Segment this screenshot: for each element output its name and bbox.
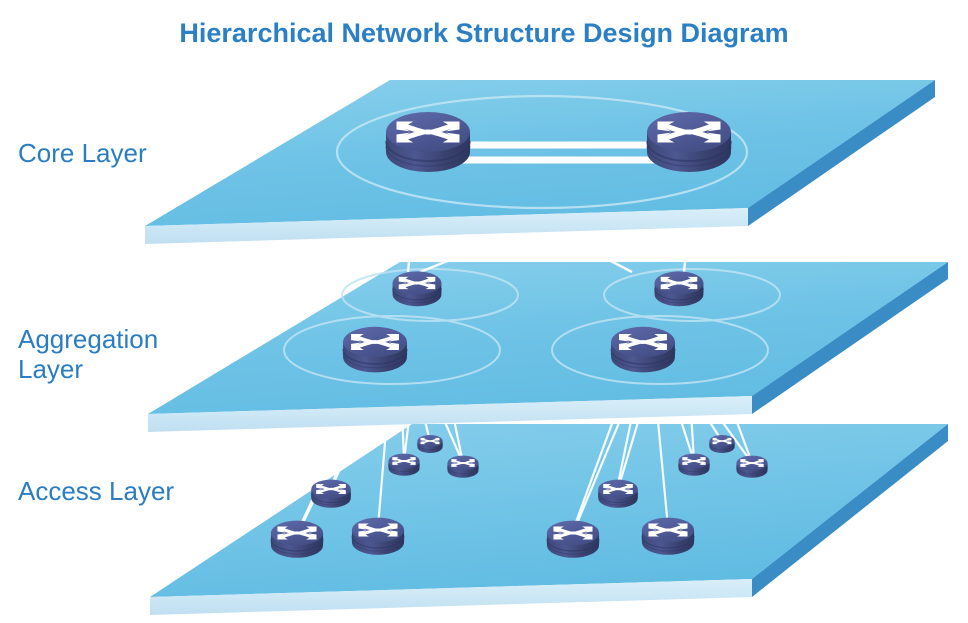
aggregation-router[interactable] (655, 271, 704, 306)
page-title: Hierarchical Network Structure Design Di… (179, 18, 788, 48)
access-router[interactable] (709, 435, 734, 453)
layer-label-access: Access Layer (18, 476, 174, 506)
layer-label-core: Core Layer (18, 138, 147, 168)
layer-label-aggregation-line1: Aggregation (18, 324, 158, 354)
access-router[interactable] (352, 518, 404, 555)
aggregation-router[interactable] (393, 271, 442, 306)
aggregation-layer-plane (148, 262, 948, 432)
access-router[interactable] (598, 480, 637, 508)
access-router[interactable] (447, 456, 478, 478)
access-router[interactable] (678, 454, 709, 476)
access-router[interactable] (271, 521, 323, 558)
core-router[interactable] (647, 112, 731, 172)
access-router[interactable] (417, 435, 442, 453)
access-router[interactable] (388, 454, 419, 476)
network-diagram: Hierarchical Network Structure Design Di… (0, 0, 968, 623)
core-router[interactable] (386, 112, 470, 172)
diagram-canvas: Hierarchical Network Structure Design Di… (0, 0, 968, 623)
access-router[interactable] (736, 456, 767, 478)
access-router[interactable] (311, 480, 350, 508)
access-router[interactable] (547, 521, 599, 558)
layer-label-aggregation-line2: Layer (18, 354, 83, 384)
access-router[interactable] (642, 518, 694, 555)
access-layer-plane (150, 424, 948, 615)
aggregation-router[interactable] (343, 327, 407, 373)
aggregation-router[interactable] (611, 327, 675, 373)
